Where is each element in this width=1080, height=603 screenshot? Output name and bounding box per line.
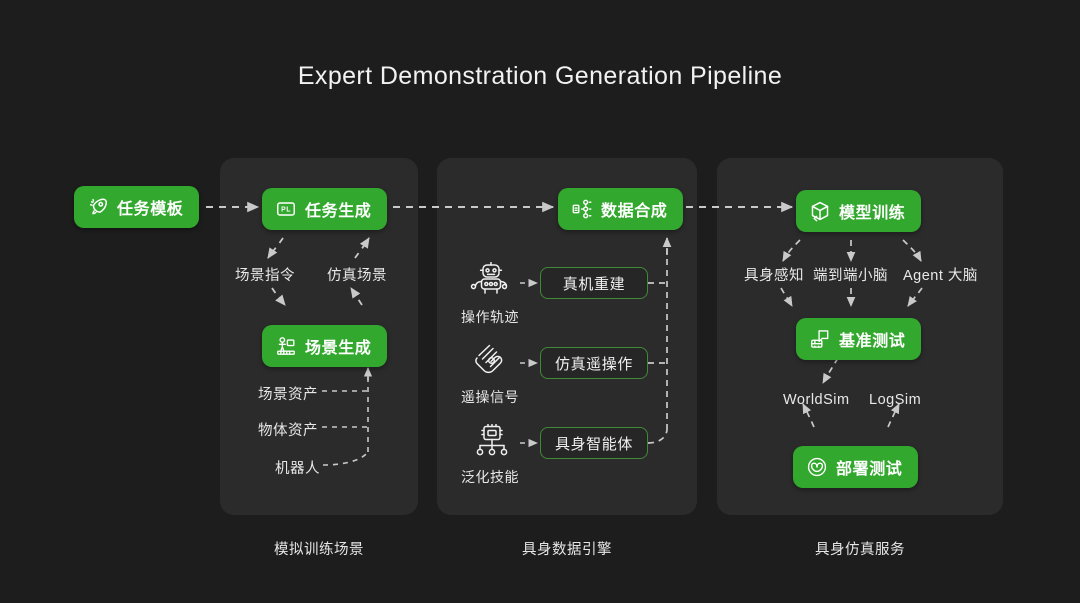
panel-caption-embodied-simulation-service: 具身仿真服务 xyxy=(717,538,1003,559)
benchmark-icon xyxy=(809,328,831,350)
robot-icon xyxy=(470,262,512,302)
node-label: 任务生成 xyxy=(305,197,371,221)
flow-label-simulated-scene: 仿真场景 xyxy=(327,264,387,285)
flow-label-embodied-perception: 具身感知 xyxy=(744,264,804,285)
input-label-object-assets: 物体资产 xyxy=(258,419,318,440)
node-label: 数据合成 xyxy=(601,197,667,221)
node-label: 基准测试 xyxy=(839,327,905,351)
flow-label-scene-instruction: 场景指令 xyxy=(235,264,295,285)
box-simulated-teleoperation[interactable]: 仿真遥操作 xyxy=(540,347,648,379)
pipeline-diagram: Expert Demonstration Generation Pipeline xyxy=(0,0,1080,603)
node-label: 模型训练 xyxy=(839,199,905,223)
cube-train-icon xyxy=(809,200,831,222)
rocket-icon xyxy=(87,196,109,218)
pl-badge-icon: PL xyxy=(275,198,297,220)
svg-text:PL: PL xyxy=(281,206,291,213)
icon-label-operation-trajectory: 操作轨迹 xyxy=(461,307,519,327)
glove-icon xyxy=(470,343,512,381)
chip-icon xyxy=(472,424,512,462)
panel-caption-simulated-training-scenarios: 模拟训练场景 xyxy=(220,538,418,559)
node-task-generation[interactable]: PL 任务生成 xyxy=(262,188,387,230)
page-title: Expert Demonstration Generation Pipeline xyxy=(0,62,1080,91)
icon-label-generalization-skill: 泛化技能 xyxy=(461,467,519,487)
node-model-training[interactable]: 模型训练 xyxy=(796,190,921,232)
box-embodied-agent[interactable]: 具身智能体 xyxy=(540,427,648,459)
panel-caption-embodied-data-engine: 具身数据引擎 xyxy=(437,538,697,559)
node-task-template[interactable]: 任务模板 xyxy=(74,186,199,228)
node-label: 任务模板 xyxy=(117,195,183,219)
node-scene-generation[interactable]: 场景生成 xyxy=(262,325,387,367)
node-label: 部署测试 xyxy=(836,455,902,479)
input-label-scene-assets: 场景资产 xyxy=(258,383,318,404)
box-real-machine-reconstruction[interactable]: 真机重建 xyxy=(540,267,648,299)
flow-label-agent-brain: Agent 大脑 xyxy=(903,264,978,285)
scene-robot-icon xyxy=(275,335,297,357)
flow-label-end-to-end-cerebellum: 端到端小脑 xyxy=(813,264,888,285)
node-benchmark-test[interactable]: 基准测试 xyxy=(796,318,921,360)
data-synthesis-icon xyxy=(571,198,593,220)
input-label-robot: 机器人 xyxy=(275,457,320,478)
node-deployment-test[interactable]: 部署测试 xyxy=(793,446,918,488)
flow-label-worldsim: WorldSim xyxy=(783,392,850,408)
icon-label-teleop-signal: 遥操信号 xyxy=(461,387,519,407)
deploy-icon xyxy=(806,456,828,478)
flow-label-logsim: LogSim xyxy=(869,392,921,408)
node-data-synthesis[interactable]: 数据合成 xyxy=(558,188,683,230)
node-label: 场景生成 xyxy=(305,334,371,358)
